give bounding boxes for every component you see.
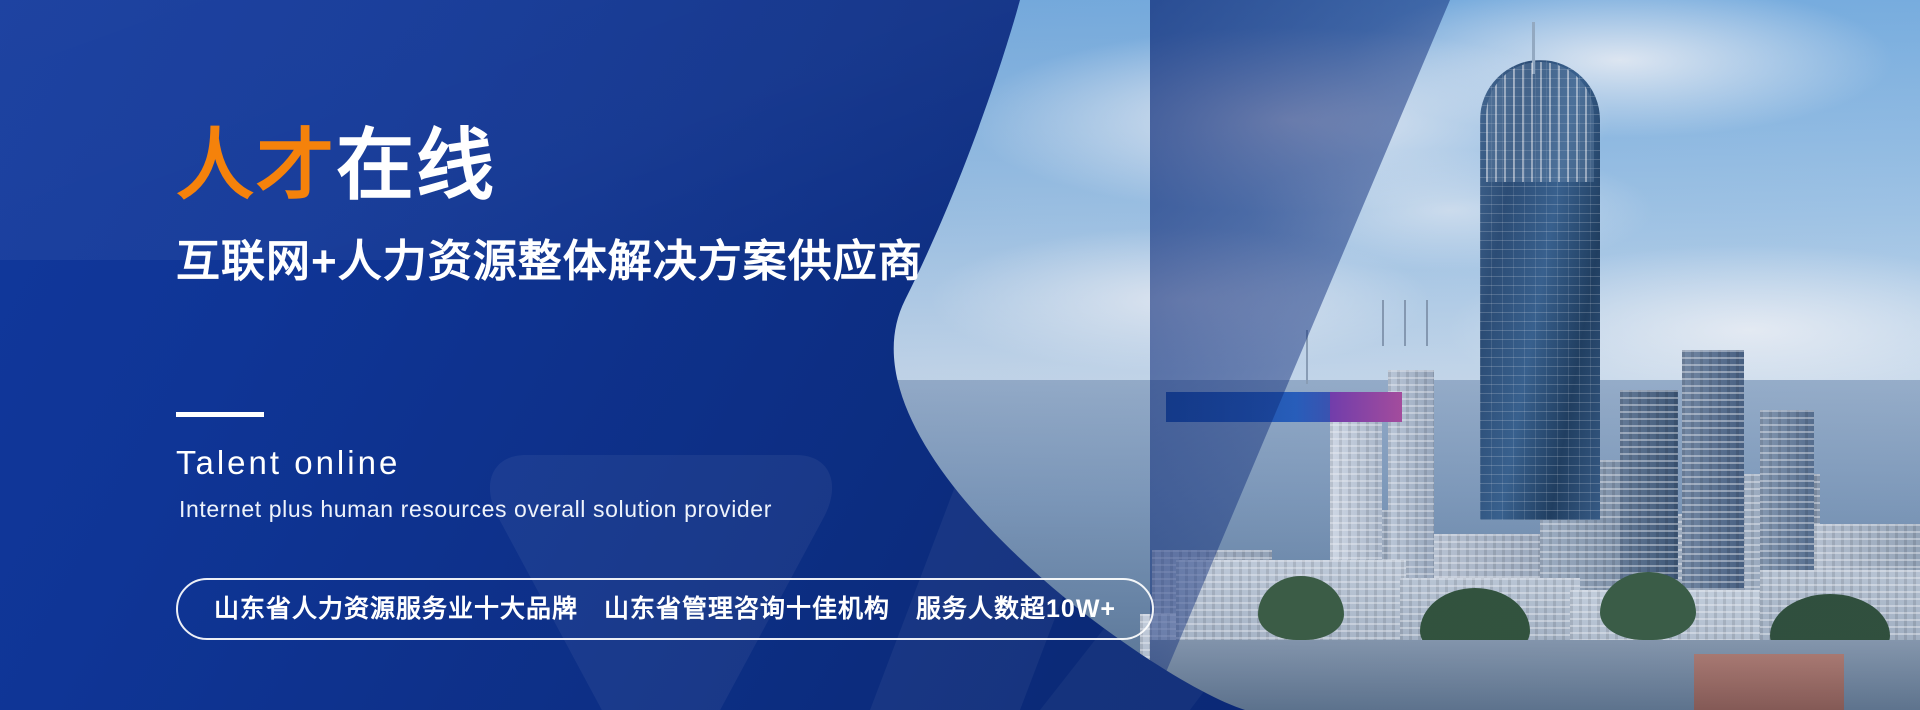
english-headline: Talent online bbox=[176, 442, 400, 485]
hero-banner: 人才在线 互联网+人力资源整体解决方案供应商 Talent online Int… bbox=[0, 0, 1920, 710]
credentials-badge: 山东省人力资源服务业十大品牌 山东省管理咨询十佳机构 服务人数超10W+ bbox=[176, 578, 1154, 640]
banner-content: 人才在线 互联网+人力资源整体解决方案供应商 Talent online Int… bbox=[0, 0, 1920, 710]
title-plain: 在线 bbox=[336, 121, 496, 209]
divider-rule bbox=[176, 412, 264, 417]
badge-item-3: 服务人数超10W+ bbox=[916, 597, 1116, 622]
page-subtitle: 互联网+人力资源整体解决方案供应商 bbox=[176, 240, 923, 284]
title-accent: 人才 bbox=[176, 121, 336, 209]
page-title: 人才在线 bbox=[176, 126, 496, 204]
badge-item-2: 山东省管理咨询十佳机构 bbox=[604, 597, 890, 622]
badge-item-1: 山东省人力资源服务业十大品牌 bbox=[214, 597, 578, 622]
english-tagline: Internet plus human resources overall so… bbox=[179, 495, 772, 525]
